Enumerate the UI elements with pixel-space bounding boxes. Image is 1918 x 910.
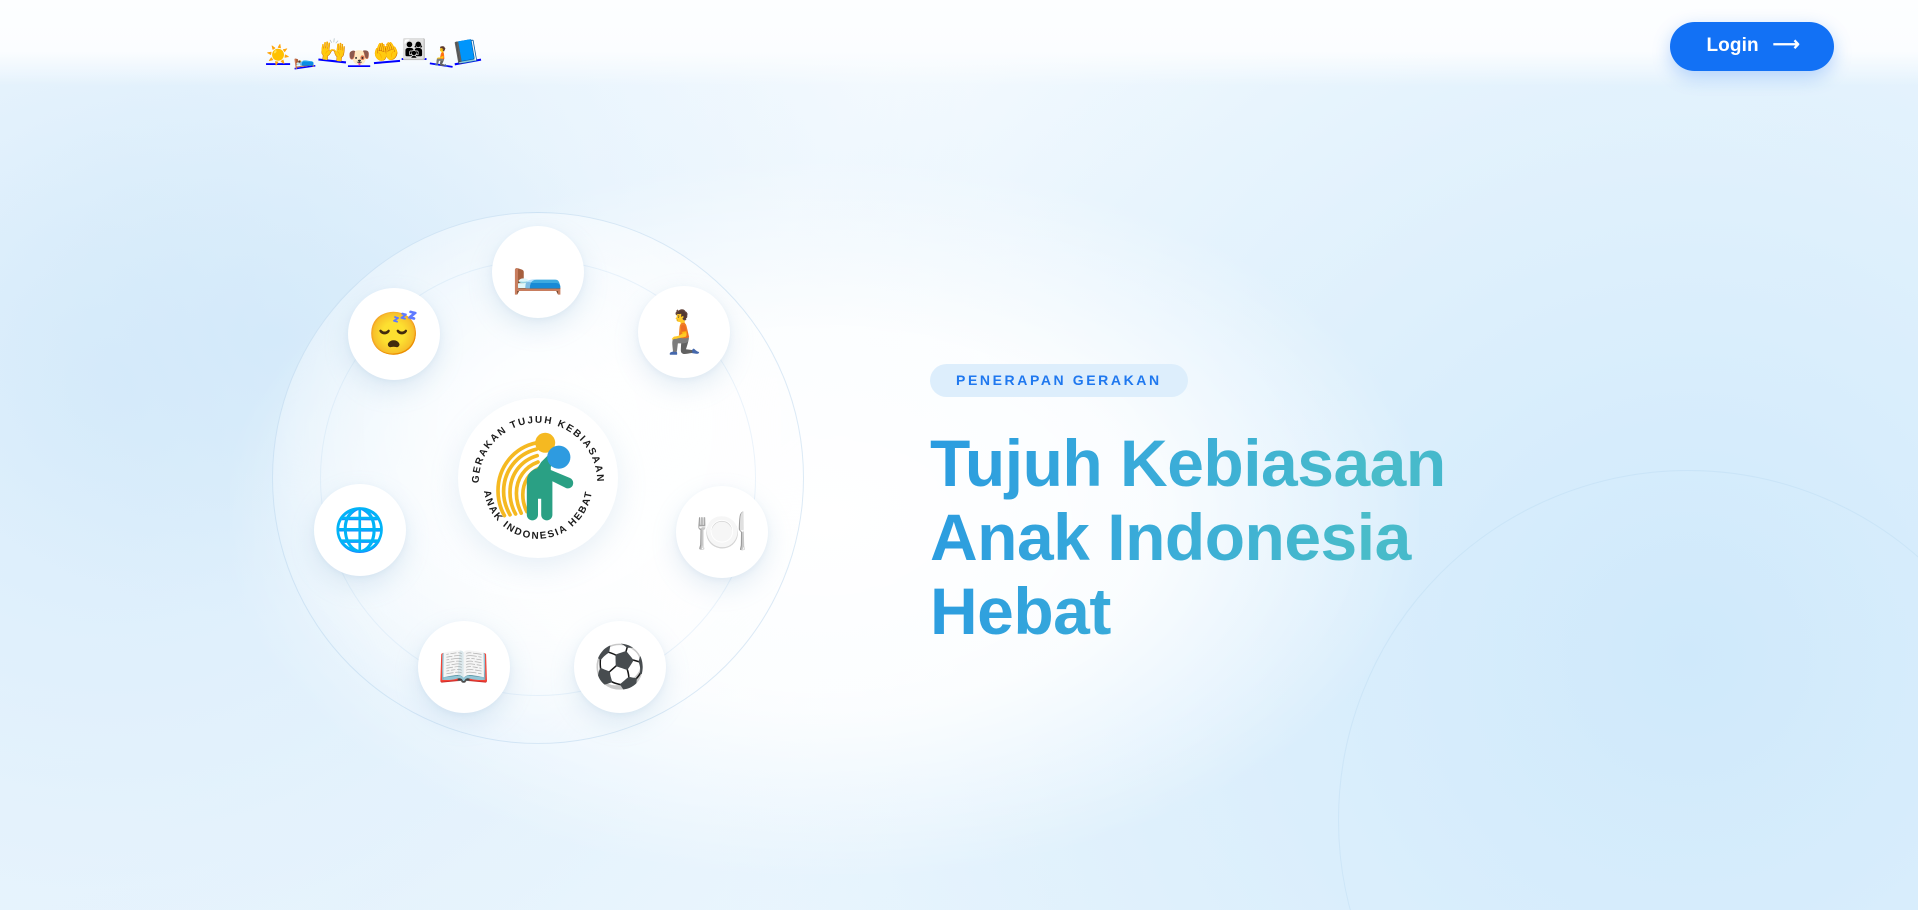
habit-node-beribadah[interactable]: 🧎: [638, 286, 730, 378]
login-button-label: Login: [1706, 35, 1758, 57]
brand-glyph-bed-icon: 🛌: [293, 50, 316, 70]
page-title-line-3: Hebat: [930, 575, 1570, 649]
site-header: ☀️ 🛌 🙌 🐶 🤲 👨‍👩‍👧 🧎 📘 Login ⟶: [0, 0, 1918, 92]
arrow-right-icon: ⟶: [1773, 35, 1800, 54]
habit-node-gemar-belajar[interactable]: 📖: [418, 621, 510, 713]
brand-glyph-pray-icon: 🤲: [372, 41, 400, 64]
page-title-line-1: Tujuh Kebiasaan: [930, 427, 1570, 501]
child-playing-soccer-icon: ⚽: [594, 646, 646, 688]
gerakan-emblem[interactable]: GERAKAN TUJUH KEBIASAAN ANAK INDONESIA H…: [458, 398, 618, 558]
brand-glyph-family-icon: 👨‍👩‍👧: [401, 40, 426, 60]
habit-node-berolahraga[interactable]: ⚽: [574, 621, 666, 713]
brand-glyph-book-icon: 📘: [451, 40, 481, 66]
community-network-icon: 🌐: [334, 509, 386, 551]
person-sleeping-icon: 😴: [368, 313, 420, 355]
habit-node-bermasyarakat[interactable]: 🌐: [314, 484, 406, 576]
brand-glyph-animal-icon: 🐶: [348, 49, 370, 67]
habit-node-makan-sehat[interactable]: 🍽️: [676, 486, 768, 578]
child-reading-icon: 📖: [438, 646, 490, 688]
brand-glyph-sun-icon: ☀️: [266, 46, 290, 65]
brand-logo[interactable]: ☀️ 🛌 🙌 🐶 🤲 👨‍👩‍👧 🧎 📘: [265, 29, 481, 63]
brand-glyph-hands-icon: 🙌: [319, 38, 349, 63]
page-title: Tujuh Kebiasaan Anak Indonesia Hebat: [930, 427, 1570, 649]
login-button[interactable]: Login ⟶: [1670, 22, 1834, 71]
child-waking-in-bed-icon: 🛏️: [512, 251, 564, 293]
habits-orbit-illustration: 🛏️ 🧎 🍽️ ⚽ 📖 🌐 😴 GERAKAN TUJUH KEBIASAAN: [272, 212, 804, 744]
page-title-line-2: Anak Indonesia: [930, 501, 1570, 575]
habit-node-bangun-pagi[interactable]: 🛏️: [492, 226, 584, 318]
healthy-meal-plate-icon: 🍽️: [696, 511, 748, 553]
eyebrow-badge: PENERAPAN GERAKAN: [930, 364, 1188, 397]
hero-copy: PENERAPAN GERAKAN Tujuh Kebiasaan Anak I…: [930, 364, 1650, 649]
child-praying-icon: 🧎: [658, 311, 710, 353]
habit-node-tidur-cepat[interactable]: 😴: [348, 288, 440, 380]
